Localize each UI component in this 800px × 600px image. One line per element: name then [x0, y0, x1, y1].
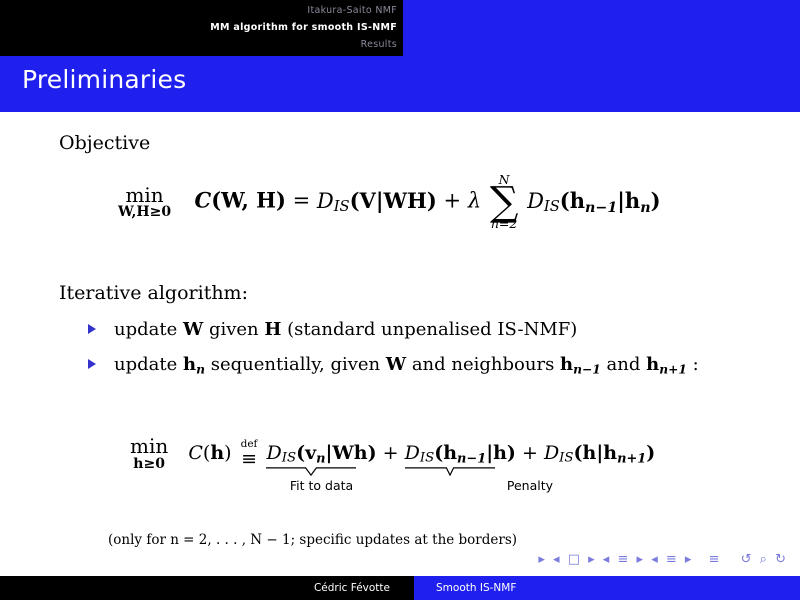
equation-subproblem: min h≥0 C(h) def ≡ DIS(vn|Wh) Fit to dat… [130, 436, 655, 472]
min-op-label-2: min [130, 434, 168, 458]
footer-author: Cédric Févotte [0, 576, 414, 600]
cost-function-h-label: C(h) [188, 442, 231, 464]
underbrace-icon [405, 467, 495, 476]
nav-section-results[interactable]: Results [0, 36, 397, 53]
equation-objective: min W,H≥0 C(W, H) = DIS(V|WH) + λ N ∑ n=… [118, 174, 661, 230]
nav-frame-icon[interactable]: □ [568, 552, 581, 567]
penalty-term-left: DIS(hn−1|h) [405, 442, 516, 464]
triangle-bullet-icon [88, 324, 96, 334]
list-item: update hn sequentially, given W and neig… [86, 352, 726, 379]
nav-section-mm-algorithm[interactable]: MM algorithm for smooth IS-NMF [0, 19, 397, 36]
nav-document-icon[interactable]: ≡ [709, 552, 721, 567]
nav-section-back-icon[interactable]: ◂ [651, 552, 659, 567]
sum-glyph: ∑ [490, 187, 519, 218]
footer-bar: Cédric Févotte Smooth IS-NMF [0, 576, 800, 600]
penalty-divergence-term: DIS(hn−1|hn) [527, 189, 660, 213]
bullet-2-text: update hn sequentially, given W and neig… [114, 354, 699, 375]
penalty-group: DIS(hn−1|h) + DIS(h|hn+1) Penalty [405, 442, 656, 467]
min-op-subscript: W,H≥0 [118, 205, 171, 220]
page-title: Preliminaries [22, 65, 186, 94]
fit-to-data-label: Fit to data [266, 478, 376, 493]
bullet-1-text: update W given H (standard unpenalised I… [114, 319, 577, 340]
nav-search-icon[interactable]: ⌕ [760, 552, 768, 567]
list-item: update W given H (standard unpenalised I… [86, 317, 726, 343]
nav-section-icon[interactable]: ≡ [666, 552, 678, 567]
sum-lower-limit: n=2 [490, 218, 519, 231]
min-operator-2: min h≥0 [130, 436, 168, 472]
min-op-subscript-2: h≥0 [130, 457, 168, 472]
slide: Itakura-Saito NMF MM algorithm for smoot… [0, 0, 800, 600]
triangle-bullet-icon [88, 359, 96, 369]
nav-section-forward-icon[interactable]: ▸ [685, 552, 693, 567]
iterative-algorithm-label: Iterative algorithm: [59, 282, 248, 304]
nav-frame-forward-icon[interactable]: ▸ [588, 552, 596, 567]
fit-term-2: DIS(vn|Wh) [266, 442, 376, 464]
footer-short-title: Smooth IS-NMF [414, 576, 800, 600]
nav-back-icon[interactable]: ↺ [741, 552, 753, 567]
underbrace-icon [266, 467, 356, 476]
penalty-term-right: DIS(h|hn+1) [544, 442, 655, 464]
nav-slide-forward-icon[interactable]: ▸ [538, 552, 546, 567]
nav-subsection-back-icon[interactable]: ◂ [603, 552, 611, 567]
def-equals-operator: def ≡ [241, 440, 258, 468]
section-navigation: Itakura-Saito NMF MM algorithm for smoot… [0, 0, 403, 56]
cost-function-label: C(W, H) [195, 188, 286, 213]
min-operator-1: min W,H≥0 [118, 184, 171, 220]
nav-subsection-icon[interactable]: ≡ [617, 552, 629, 567]
objective-label: Objective [59, 132, 150, 154]
plus-sign-3: + [522, 442, 538, 464]
penalty-label: Penalty [405, 478, 656, 493]
header-bar: Itakura-Saito NMF MM algorithm for smoot… [0, 0, 800, 56]
slide-body: Objective min W,H≥0 C(W, H) = DIS(V|WH) … [0, 112, 800, 552]
nav-frame-back-icon[interactable]: ◂ [553, 552, 561, 567]
beamer-navigation-symbols[interactable]: ▸ ◂ □ ▸ ◂ ≡ ▸ ◂ ≡ ▸ ≡ ↺ ⌕ ↻ [0, 552, 800, 576]
footnote-text: (only for n = 2, . . . , N − 1; specific… [108, 532, 517, 548]
plus-sign-2: + [383, 442, 399, 464]
def-equals-symbol: ≡ [241, 450, 258, 468]
nav-subsection-forward-icon[interactable]: ▸ [637, 552, 645, 567]
plus-sign-1: + [444, 189, 462, 213]
summation-operator: N ∑ n=2 [490, 174, 519, 230]
nav-section-itakura-saito-nmf[interactable]: Itakura-Saito NMF [0, 2, 397, 19]
bullet-list: update W given H (standard unpenalised I… [86, 317, 726, 387]
fit-divergence-term: DIS(V|WH) [317, 189, 437, 213]
title-bar: Preliminaries [0, 56, 800, 112]
nav-forward-icon[interactable]: ↻ [775, 552, 787, 567]
equals-sign-1: = [293, 189, 311, 213]
lambda-symbol: λ [468, 189, 481, 213]
fit-to-data-group: DIS(vn|Wh) Fit to data [266, 442, 376, 467]
